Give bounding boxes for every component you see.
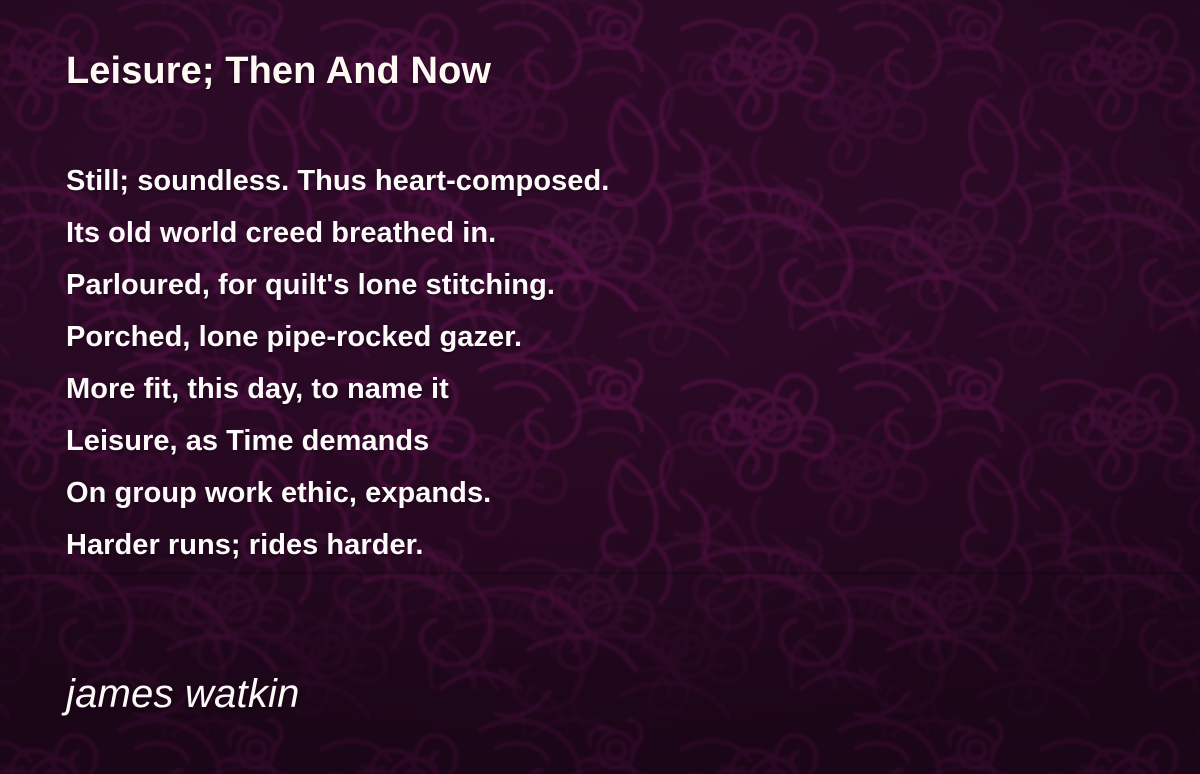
poem-line: Still; soundless. Thus heart-composed. xyxy=(66,155,609,207)
poem-line: Leisure, as Time demands xyxy=(66,415,609,467)
poem-content: Leisure; Then And Now Still; soundless. … xyxy=(0,0,1200,774)
poem-title: Leisure; Then And Now xyxy=(66,50,491,93)
poem-line: Harder runs; rides harder. xyxy=(66,519,609,571)
poem-body: Still; soundless. Thus heart-composed. I… xyxy=(66,155,609,571)
poem-image-card: Leisure; Then And Now Still; soundless. … xyxy=(0,0,1200,774)
poem-line: On group work ethic, expands. xyxy=(66,467,609,519)
poem-line: Porched, lone pipe-rocked gazer. xyxy=(66,311,609,363)
poem-line: More fit, this day, to name it xyxy=(66,363,609,415)
poem-author-name: james watkin xyxy=(66,672,300,717)
poem-line: Its old world creed breathed in. xyxy=(66,207,609,259)
poem-line: Parloured, for quilt's lone stitching. xyxy=(66,259,609,311)
